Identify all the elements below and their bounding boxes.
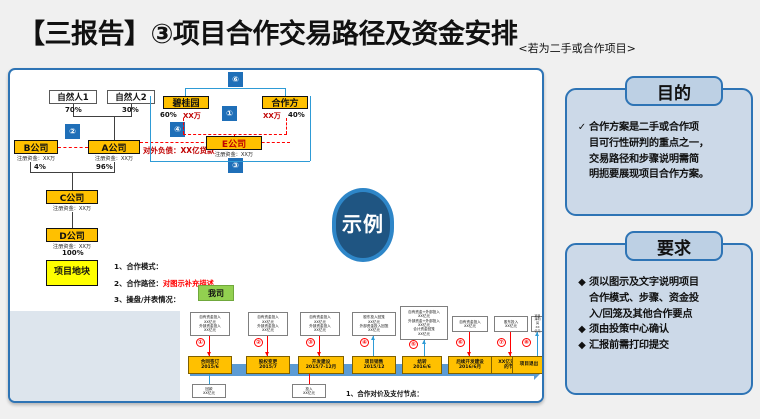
requirement-bullet-row: ◆ 汇报前需打印提交 [575,338,743,354]
mid-item-label: 合作模式： [126,262,162,271]
capital-label-1: XX万 [183,111,201,121]
timeline-detail-box: 自有资金投入 XX亿元 外部资金投入 XX亿元 [248,312,288,336]
step-badge-2[interactable]: ② [65,124,80,139]
mid-numbered-list: 1、合作模式： 2、合作路径：对图示补充描述 3、操盘/并表情况： [114,262,264,312]
capital-label-2: XX万 [263,111,281,121]
requirement-panel-body: ◆ 须以图示及文字说明项目 合作模式、步骤、资金投 入/回笼及其他合作要点 ◆ … [567,271,751,354]
connector-line [185,88,285,89]
org-node-land-label: 项目地块 [54,268,90,277]
purpose-panel-header: 目的 [625,76,723,106]
example-stamp: 示例 [332,188,394,262]
pct-96: 96% [96,163,113,171]
diagram-card: 自然人1 自然人2 70% 30% A公司 注册资金：XX万 B公司 注册资金：… [8,68,544,403]
milestone-date: 2016/6月 [459,365,481,370]
connector-line [309,374,310,384]
mid-item-num: 1、 [114,262,126,271]
org-node-companyB[interactable]: B公司 [14,140,58,154]
timeline-detail-box: 自有资金投入 XX亿元 外部资金投入 XX亿元 [190,312,230,336]
frame-line [150,96,151,161]
timeline-num-5: ⑤ [409,340,418,349]
org-node-land[interactable]: 项目地块 [46,260,98,286]
frame-line [150,161,310,162]
mid-list-item: 1、合作模式： [114,262,264,272]
milestone-date: 2015/6 [201,365,219,370]
connector-line [114,116,115,140]
purpose-line: 目可行性研判的重点之一， [589,136,709,152]
milestone-date: 2015/7 [259,365,277,370]
connector-line [73,116,132,117]
pct-60: 60% [160,111,177,119]
detail-line: XX亿元 [368,328,380,332]
timeline-num-1: ① [196,338,205,347]
milestone-date: 2016/6 [413,365,431,370]
org-node-bgy[interactable]: 碧桂园 [163,96,209,109]
connector-line [285,88,286,96]
purpose-panel-body: ✓ 合作方案是二手或合作项 目可行性研判的重点之一， 交易路径和步骤说明需简 明… [567,116,751,184]
connector-line [72,212,73,228]
mid-item-label: 合作路径： [126,279,162,288]
connector-line [72,172,73,190]
pct-4: 4% [34,163,46,171]
org-node-partner[interactable]: 合作方 [262,96,308,109]
bottom-list-item: 2、开发建设资金投入： [346,402,544,403]
arrow-icon [535,332,539,336]
org-node-companyC[interactable]: C公司 [46,190,98,204]
requirement-line: 须以图示及文字说明项目 [589,275,699,291]
detail-line: XX亿元 [505,324,517,328]
requirement-bullet-row: ◆ 须由投策中心确认 [575,322,743,338]
org-node-companyA[interactable]: A公司 [88,140,140,154]
org-caption-companyC: 注册资金：XX万 [41,205,103,212]
frame-line [310,96,311,161]
arrow-icon [371,336,375,340]
timeline-milestone-1[interactable]: 合同签订 2015/6 [188,356,232,374]
detail-line: XX亿元 [204,328,216,332]
our-company-tag[interactable]: 我司 [198,285,234,301]
org-node-companyD[interactable]: D公司 [46,228,98,242]
timeline-milestone-8[interactable]: 项目退出 [512,356,544,374]
timeline-detail-box: 自有资金投入 XX亿元 外部资金投入 XX亿元 [300,312,340,336]
org-node-person2[interactable]: 自然人2 [107,90,155,104]
slide-title-bar: 【三报告】③项目合作交易路径及资金安排 <若为二手或合作项目> [0,0,760,62]
bottom-list-item: 1、合作对价及支付节点： [346,388,544,398]
connector-line [209,374,210,384]
pct-40: 40% [288,111,305,119]
purpose-line: 合作方案是二手或合作项 [589,120,709,136]
timeline-num-7: ⑦ [497,338,506,347]
dashed-link [183,134,287,135]
timeline-below-box-2: 投入 XX亿元 [292,384,326,398]
requirement-line: 汇报前需打印提交 [589,338,669,354]
requirement-line: 合作模式、步骤、资金投 [589,291,699,307]
timeline-num-4: ④ [360,338,369,347]
detail-line: XX亿元 [203,391,215,395]
timeline-milestone-5[interactable]: 结转 2016/6 [402,356,442,374]
timeline-detail-box: 自有资金投入 XX亿元 [452,316,488,332]
org-caption-companyE: 注册资金：XX万 [203,151,265,158]
pct-70: 70% [65,106,82,114]
timeline-detail-box: 股东投入回笼 XX亿元 外部资金投入回笼 XX亿元 [352,312,396,336]
timeline-detail-box: 自有资金+外部投入 XX亿元 外部资金+外部投入 XX亿元 合计资金回笼 XX亿… [400,306,448,340]
bottom-item-num: 1、 [346,390,357,398]
diamond-icon: ◆ [575,275,589,291]
bottom-numbered-list: 1、合作对价及支付节点： 2、开发建设资金投入： 3、债权债务清理方案：如果复杂… [346,388,544,403]
timeline-num-8: ⑧ [522,338,531,347]
org-node-companyE[interactable]: E公司 [206,136,262,150]
mid-item-label: 操盘/并表情况： [126,295,180,304]
connector-line [114,162,115,172]
timeline-detail-box: 项目净利润 XX亿元 [531,316,544,332]
milestone-label: 项目退出 [520,362,538,367]
timeline-milestone-2[interactable]: 股权变更 2015/7 [246,356,290,374]
detail-line: XX亿元 [314,328,326,332]
connector-line [30,162,31,172]
milestone-date: 2015/12 [364,365,385,370]
requirement-line: 入/回笼及其他合作要点 [589,307,699,323]
org-caption-companyB: 注册资金：XX万 [8,155,67,162]
timeline-below-box-1: 回款 XX亿元 [192,384,226,398]
org-caption-companyA: 注册资金：XX万 [83,155,145,162]
page-subtitle: <若为二手或合作项目> [518,40,635,62]
org-node-person1[interactable]: 自然人1 [49,90,97,104]
diamond-icon: ◆ [575,338,589,354]
mid-item-num: 2、 [114,279,126,288]
purpose-line: 交易路径和步骤说明需简 [589,152,709,168]
milestone-date: 2015/7-12月 [306,365,337,370]
dashed-link [286,118,287,134]
purpose-panel: ✓ 合作方案是二手或合作项 目可行性研判的重点之一， 交易路径和步骤说明需简 明… [565,88,753,216]
timeline-milestone-3[interactable]: 开发建设 2015/7-12月 [298,356,344,374]
detail-line: XX亿元 [418,332,430,336]
requirement-panel-header: 要求 [625,231,723,261]
step-badge-6[interactable]: ⑥ [228,72,243,87]
page-title: 【三报告】③项目合作交易路径及资金安排 [18,12,517,51]
timeline-milestone-4[interactable]: 项目销售 2015/12 [352,356,396,374]
connector-line [185,88,186,96]
detail-line: XX亿元 [262,328,274,332]
timeline-detail-box: 股东投入 XX亿元 [494,316,528,332]
check-icon: ✓ [575,120,589,136]
pct-100: 100% [62,249,84,257]
timeline-num-2: ② [254,338,263,347]
diamond-icon: ◆ [575,322,589,338]
mid-list-item: 3、操盘/并表情况： [114,295,264,305]
pct-30: 30% [122,106,139,114]
timeline-milestone-6[interactable]: 后续开发建设 2016/6月 [448,356,492,374]
mid-item-num: 3、 [114,295,126,304]
detail-line: XX亿元 [303,391,315,395]
purpose-bullet-row: ✓ 合作方案是二手或合作项 目可行性研判的重点之一， 交易路径和步骤说明需简 明… [575,120,743,183]
timeline-num-6: ⑥ [456,338,465,347]
detail-line: XX亿元 [464,324,476,328]
requirement-bullet-row: ◆ 须以图示及文字说明项目 合作模式、步骤、资金投 入/回笼及其他合作要点 [575,275,743,322]
timeline-num-3: ③ [306,338,315,347]
dashed-link [183,118,184,134]
purpose-line: 明扼要展现项目合作方案。 [589,167,709,183]
dashed-link-b-a [58,147,88,148]
requirement-line: 须由投策中心确认 [589,322,669,338]
step-badge-1[interactable]: ① [222,106,237,121]
bottom-item-label: 合作对价及支付节点： [357,390,423,398]
requirement-panel: ◆ 须以图示及文字说明项目 合作模式、步骤、资金投 入/回笼及其他合作要点 ◆ … [565,243,753,395]
mid-list-item: 2、合作路径：对图示补充描述 [114,279,264,289]
arrow-icon [422,340,426,344]
